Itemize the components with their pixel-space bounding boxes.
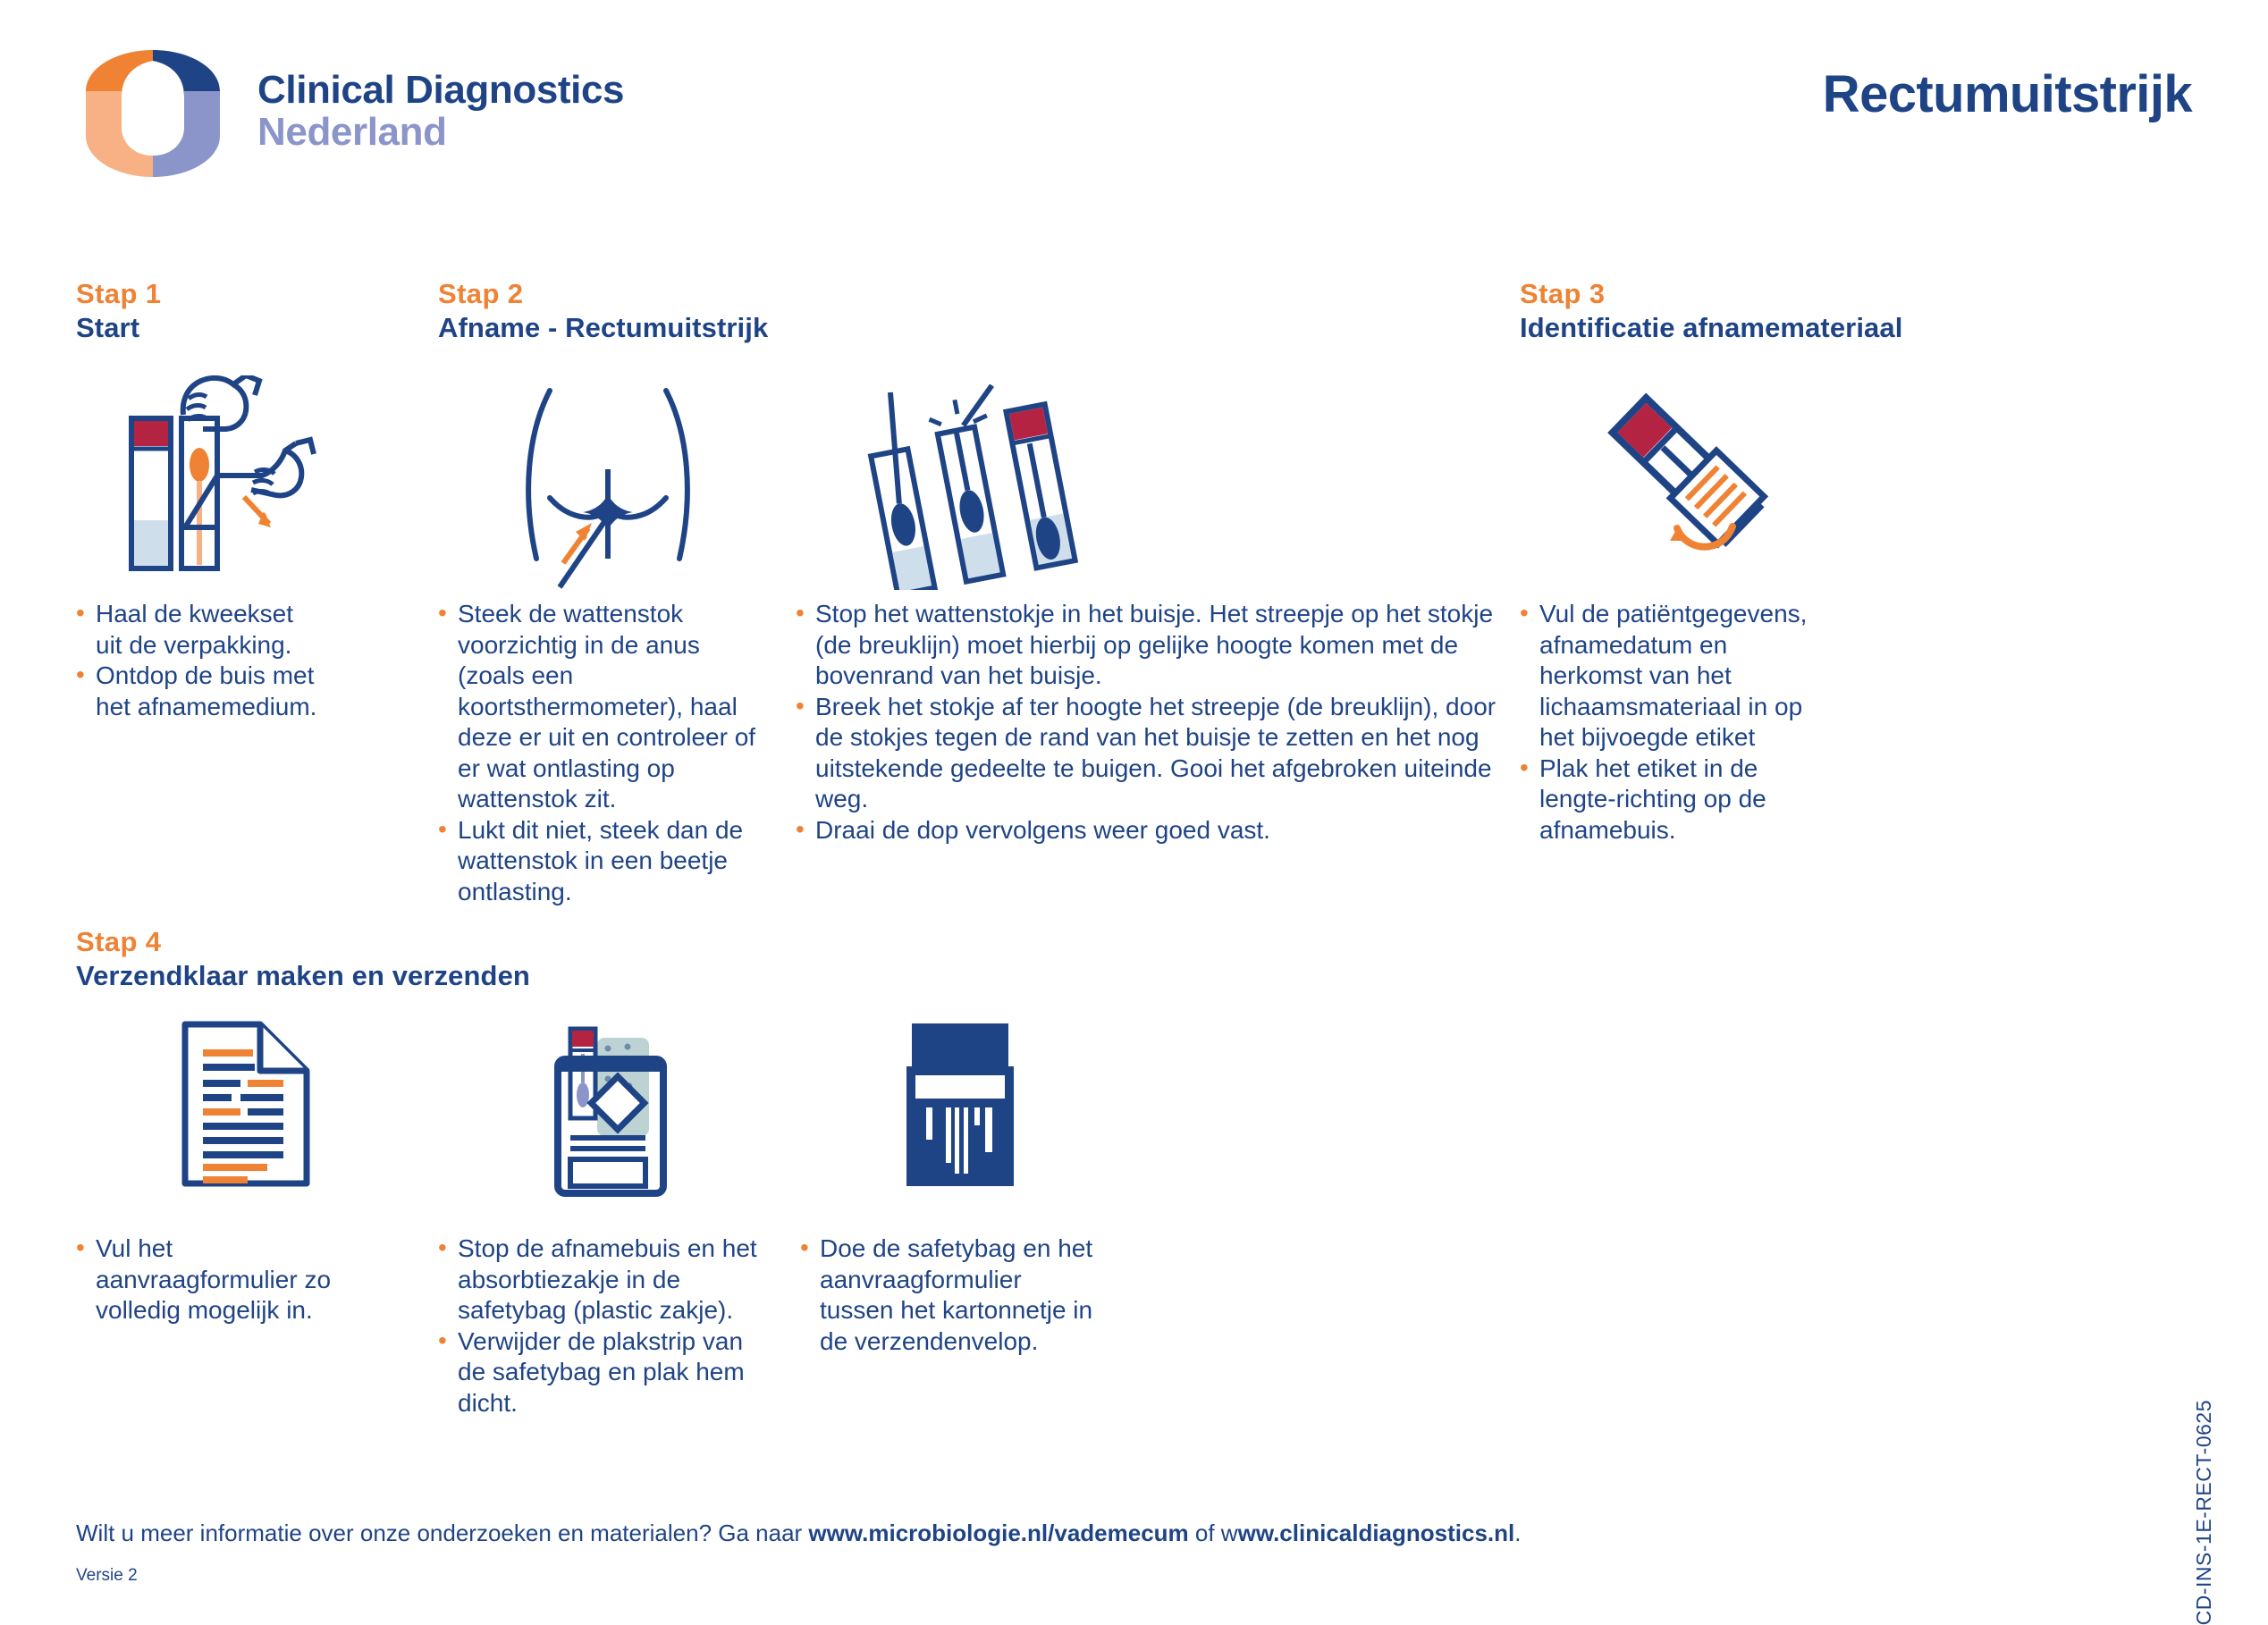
version-label: Versie 2 <box>76 1566 138 1586</box>
footer-info-text: Wilt u meer informatie over onze onderzo… <box>76 1520 1522 1547</box>
step-1-heading: Stap 1 Start <box>76 277 161 345</box>
step-4-name: Verzendklaar maken en verzenden <box>76 959 530 993</box>
step-4-bullets-col2: Stop de afnamebuis en het absorbtiezakje… <box>438 1233 760 1419</box>
step-1-bullets: Haal de kweekset uit de verpakking. Ontd… <box>76 599 326 722</box>
footer-end: . <box>1514 1520 1521 1546</box>
footer-intro: Wilt u meer informatie over onze onderzo… <box>76 1520 808 1546</box>
illustration-shipping-envelope <box>894 1015 1028 1193</box>
list-item: Stop het wattenstokje in het buisje. Het… <box>796 599 1502 692</box>
step-3-bullets: Vul de patiëntgegevens, afnamedatum en h… <box>1520 599 1833 846</box>
illustration-request-form <box>174 1019 317 1189</box>
list-item: Doe de safetybag en het aanvraagformulie… <box>800 1233 1095 1357</box>
illustration-label-on-tube <box>1600 380 1779 559</box>
list-item: Steek de wattenstok voorzichtig in de an… <box>438 599 760 815</box>
step-4-bullets-col1: Vul het aanvraagformulier zo volledig mo… <box>76 1233 344 1326</box>
step-1-number: Stap 1 <box>76 277 161 311</box>
step-3-name: Identificatie afnamemateriaal <box>1520 311 1902 345</box>
list-item: Stop de afnamebuis en het absorbtiezakje… <box>438 1233 760 1326</box>
list-item: Verwijder de plakstrip van de safetybag … <box>438 1326 760 1419</box>
illustration-anus-swab-insertion <box>510 380 715 594</box>
step-3-heading: Stap 3 Identificatie afnamemateriaal <box>1520 277 1902 345</box>
illustration-break-swab-into-tube <box>854 384 1104 590</box>
step-4-bullets-col3: Doe de safetybag en het aanvraagformulie… <box>800 1233 1095 1357</box>
document-code: CD-INS-1E-RECT-0625 <box>2192 1400 2216 1625</box>
footer-link-vademecum[interactable]: www.microbiologie.nl/vademecum <box>808 1520 1188 1546</box>
step-2-bullets-right: Stop het wattenstokje in het buisje. Het… <box>796 599 1502 846</box>
illustration-safetybag <box>545 1023 688 1202</box>
logo-line-nederland: Nederland <box>257 112 624 154</box>
footer-link-clinicaldiagnostics[interactable]: ww.clinicaldiagnostics.nl <box>1238 1520 1515 1546</box>
step-2-bullets-left: Steek de wattenstok voorzichtig in de an… <box>438 599 760 907</box>
footer-middle: of w <box>1189 1520 1238 1546</box>
list-item: Vul de patiëntgegevens, afnamedatum en h… <box>1520 599 1833 754</box>
document-title: Rectumuitstrijk <box>1823 64 2192 124</box>
logo-line-clinical-diagnostics: Clinical Diagnostics <box>257 70 624 112</box>
step-1-name: Start <box>76 311 161 345</box>
company-logo-text: Clinical Diagnostics Nederland <box>257 70 624 153</box>
list-item: Haal de kweekset uit de verpakking. <box>76 599 326 661</box>
list-item: Lukt dit niet, steek dan de wattenstok i… <box>438 815 760 908</box>
step-4-heading: Stap 4 Verzendklaar maken en verzenden <box>76 925 530 993</box>
illustration-uncap-tube <box>112 375 344 581</box>
page-header: Clinical Diagnostics Nederland Rectumuit… <box>0 0 2268 170</box>
list-item: Plak het etiket in de lengte-richting op… <box>1520 754 1833 846</box>
step-2-name: Afname - Rectumuitstrijk <box>438 311 768 345</box>
list-item: Vul het aanvraagformulier zo volledig mo… <box>76 1233 344 1326</box>
list-item: Ontdop de buis met het afnamemedium. <box>76 661 326 722</box>
step-2-heading: Stap 2 Afname - Rectumuitstrijk <box>438 277 768 345</box>
step-2-number: Stap 2 <box>438 277 768 311</box>
company-logo-mark <box>72 43 234 186</box>
step-3-number: Stap 3 <box>1520 277 1902 311</box>
step-4-number: Stap 4 <box>76 925 530 959</box>
list-item: Draai de dop vervolgens weer goed vast. <box>796 815 1502 846</box>
list-item: Breek het stokje af ter hoogte het stree… <box>796 692 1502 815</box>
